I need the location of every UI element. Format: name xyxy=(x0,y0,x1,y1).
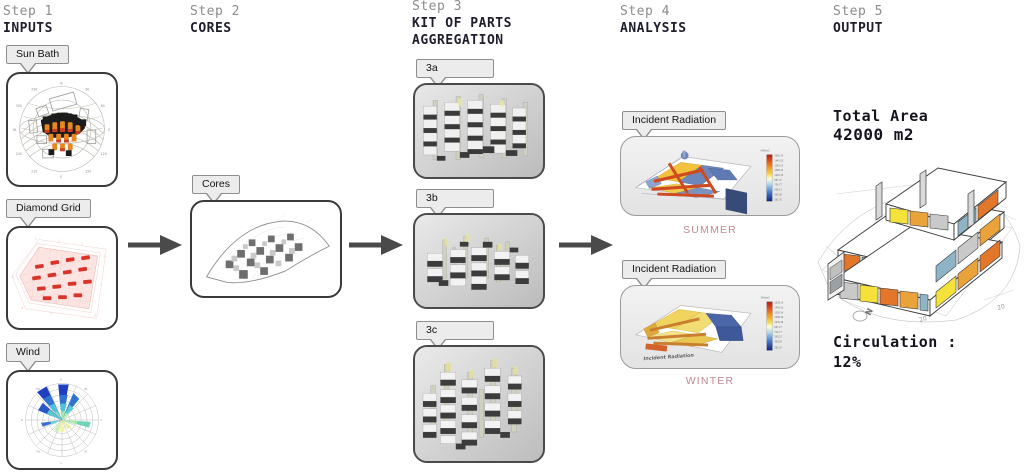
svg-text:150: 150 xyxy=(85,169,91,173)
total-area-value: 42000 m2 xyxy=(833,125,914,145)
svg-text:210: 210 xyxy=(31,169,37,173)
svg-text:430.00: 430.00 xyxy=(774,341,782,344)
svg-text:560.13: 560.13 xyxy=(774,189,782,192)
svg-text:N: N xyxy=(60,378,62,382)
svg-text:N: N xyxy=(60,82,63,86)
winter-render-caption: Incident Radiation xyxy=(643,353,694,363)
svg-text:E: E xyxy=(108,128,110,132)
step-4-number: Step 4 xyxy=(620,4,687,20)
svg-text:1265.54: 1265.54 xyxy=(774,311,783,314)
arrow-step1-to-step2-icon xyxy=(126,232,184,258)
svg-text:20: 20 xyxy=(996,303,1006,312)
svg-text:724.77: 724.77 xyxy=(774,184,782,187)
step-1-header: Step 1 INPUTS xyxy=(3,4,53,37)
cores-tag[interactable]: Cores xyxy=(192,172,240,194)
wind-tag-label: Wind xyxy=(16,346,40,358)
step-1-number: Step 1 xyxy=(3,4,53,20)
svg-text:120: 120 xyxy=(101,152,107,156)
svg-text:kWh/m2: kWh/m2 xyxy=(761,150,770,153)
svg-text:281.91: 281.91 xyxy=(774,346,782,349)
step-5-header: Step 5 OUTPUT xyxy=(833,4,883,37)
radiation-analysis-render: Incident Radiation kWh/m2 1636.191445.55… xyxy=(621,286,799,368)
sun-bath-tag[interactable]: Sun Bath xyxy=(6,42,69,64)
radiation-summer-tag[interactable]: Incident Radiation xyxy=(622,108,726,130)
step-1-title: INPUTS xyxy=(3,20,53,37)
cores-tag-label: Cores xyxy=(202,178,230,190)
svg-text:S: S xyxy=(60,175,62,179)
agg-a-tag[interactable]: 3a xyxy=(416,56,494,78)
diamond-grid-tag-label: Diamond Grid xyxy=(16,202,81,214)
surface-cores-diagram xyxy=(192,202,340,296)
svg-text:3: 3 xyxy=(81,241,83,245)
svg-text:6: 6 xyxy=(95,313,97,317)
voxel-aggregation-render xyxy=(415,215,543,307)
svg-text:SW: SW xyxy=(36,450,41,454)
agg-c-tag-label: 3c xyxy=(426,324,437,336)
sun-path-diagram: NS WE 33030 30060 240120 210150 xyxy=(8,74,116,185)
total-area-label: Total Area xyxy=(833,106,928,126)
svg-text:300: 300 xyxy=(16,104,22,108)
winter-label: WINTER xyxy=(620,375,800,387)
agg-a-tag-label: 3a xyxy=(426,62,438,74)
svg-text:kWh/m2: kWh/m2 xyxy=(761,297,770,300)
step-2-title: CORES xyxy=(190,20,240,37)
svg-text:1636.19: 1636.19 xyxy=(774,302,783,305)
svg-text:1088.44: 1088.44 xyxy=(774,316,783,319)
diamond-grid-tag[interactable]: Diamond Grid xyxy=(6,196,91,218)
arrow-step2-to-step3-icon xyxy=(347,232,405,258)
svg-text:W: W xyxy=(13,128,17,132)
svg-text:1445.55: 1445.55 xyxy=(774,159,783,162)
circulation-value: 12% xyxy=(833,352,862,372)
svg-text:SE: SE xyxy=(84,450,88,454)
wind-rose-diagram: NS WE NWNE SWSE xyxy=(8,372,116,468)
agg-b-tag-label: 3b xyxy=(426,192,438,204)
sun-bath-tag-label: Sun Bath xyxy=(16,48,59,60)
axonometric-building-render: N 20 20 xyxy=(816,150,1024,335)
svg-text:1445.55: 1445.55 xyxy=(774,306,783,309)
svg-text:1088.44: 1088.44 xyxy=(774,169,783,172)
svg-text:2: 2 xyxy=(58,238,60,242)
step-3-title-line2: AGGREGATION xyxy=(412,32,512,49)
svg-text:NE: NE xyxy=(84,387,88,391)
panel-aggregation-3c[interactable] xyxy=(413,345,545,463)
svg-text:60: 60 xyxy=(101,104,105,108)
arrow-step3-to-step4-icon xyxy=(557,232,615,258)
wind-tag[interactable]: Wind xyxy=(6,340,50,362)
radiation-winter-tag[interactable]: Incident Radiation xyxy=(622,257,726,279)
step-4-title: ANALYSIS xyxy=(620,20,687,37)
panel-radiation-summer[interactable]: kWh/m2 1636.191445.55 1265.541088.44 102… xyxy=(620,136,800,216)
svg-text:887.27: 887.27 xyxy=(774,326,782,329)
svg-text:330: 330 xyxy=(31,87,37,91)
svg-text:E: E xyxy=(100,418,102,422)
voxel-aggregation-render xyxy=(415,347,543,461)
svg-text:240: 240 xyxy=(16,152,22,156)
svg-text:281.91: 281.91 xyxy=(774,198,782,201)
panel-aggregation-3b[interactable] xyxy=(413,213,545,309)
svg-text:1636.19: 1636.19 xyxy=(774,155,783,158)
svg-text:724.77: 724.77 xyxy=(774,331,782,334)
voxel-aggregation-render xyxy=(415,85,543,177)
circulation-label: Circulation : xyxy=(833,332,957,352)
step-3-title-line1: KIT OF PARTS xyxy=(412,15,512,32)
site-grid-diagram: 123 456 789 xyxy=(8,228,116,328)
svg-text:NW: NW xyxy=(36,387,41,391)
svg-text:7: 7 xyxy=(50,312,52,316)
compass-icon: N xyxy=(853,307,875,321)
summer-label: SUMMER xyxy=(620,224,800,236)
agg-b-tag[interactable]: 3b xyxy=(416,186,494,208)
panel-diamond-grid[interactable]: 123 456 789 xyxy=(6,226,118,330)
step-3-number: Step 3 xyxy=(412,0,512,15)
svg-text:430.00: 430.00 xyxy=(774,194,782,197)
svg-text:1: 1 xyxy=(35,237,37,241)
svg-text:8: 8 xyxy=(22,306,24,310)
panel-radiation-winter[interactable]: Incident Radiation kWh/m2 1636.191445.55… xyxy=(620,285,800,369)
svg-text:887.27: 887.27 xyxy=(774,179,782,182)
svg-text:20: 20 xyxy=(918,315,928,324)
step-2-number: Step 2 xyxy=(190,4,240,20)
tag-pointer-icon xyxy=(21,361,35,370)
step-5-number: Step 5 xyxy=(833,4,883,20)
svg-text:30: 30 xyxy=(85,87,89,91)
tag-pointer-icon xyxy=(21,217,35,226)
svg-text:N: N xyxy=(864,307,875,317)
svg-text:W: W xyxy=(21,418,24,422)
step-2-header: Step 2 CORES xyxy=(190,4,240,37)
svg-text:1020.38: 1020.38 xyxy=(774,174,783,177)
workflow-diagram: Step 1 INPUTS Step 2 CORES Step 3 KIT OF… xyxy=(0,0,1024,474)
tag-pointer-icon xyxy=(21,63,35,72)
svg-text:S: S xyxy=(60,461,62,465)
agg-c-tag[interactable]: 3c xyxy=(416,318,494,340)
radiation-summer-tag-label: Incident Radiation xyxy=(632,114,716,126)
svg-text:5: 5 xyxy=(100,283,102,287)
svg-text:560.13: 560.13 xyxy=(774,336,782,339)
svg-text:1020.38: 1020.38 xyxy=(774,321,783,324)
radiation-winter-tag-label: Incident Radiation xyxy=(632,263,716,275)
step-4-header: Step 4 ANALYSIS xyxy=(620,4,687,37)
panel-cores[interactable] xyxy=(190,200,342,298)
step-5-title: OUTPUT xyxy=(833,20,883,37)
step-3-header: Step 3 KIT OF PARTS AGGREGATION xyxy=(412,0,512,49)
svg-text:1265.54: 1265.54 xyxy=(774,164,783,167)
panel-sun-bath[interactable]: NS WE 33030 30060 240120 210150 xyxy=(6,72,118,187)
panel-wind[interactable]: NS WE NWNE SWSE xyxy=(6,370,118,470)
radiation-analysis-render: kWh/m2 1636.191445.55 1265.541088.44 102… xyxy=(621,137,799,215)
panel-output-render[interactable]: N 20 20 xyxy=(816,150,1024,335)
panel-aggregation-3a[interactable] xyxy=(413,83,545,179)
svg-text:9: 9 xyxy=(12,275,14,279)
